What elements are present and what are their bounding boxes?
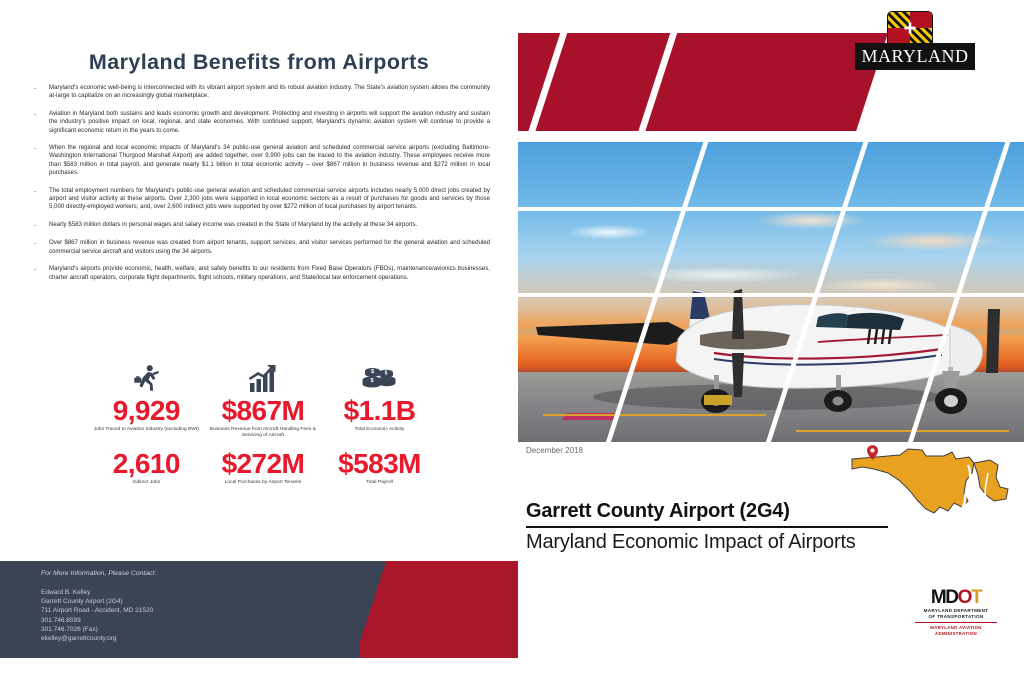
aircraft-photo (518, 139, 1024, 445)
bullet-dash-icon: - (34, 110, 49, 135)
stat-value: 9,929 (88, 396, 205, 426)
stat-value: $272M (205, 449, 322, 479)
mdot-divider (915, 622, 997, 623)
stat-total-economic-activity: $ $ $ $1.1B Total Economic Activity (321, 362, 438, 440)
mdot-letter-m: M (931, 588, 945, 608)
list-item-text: The total employment numbers for Marylan… (49, 187, 490, 212)
contact-bar: For More Information, Please Contact: Ed… (0, 561, 518, 658)
running-businessman-icon (88, 362, 205, 396)
list-item-text: Aviation in Maryland both sustains and l… (49, 110, 490, 135)
bullet-dash-icon: - (34, 144, 49, 178)
mosaic-diagonal-divider (597, 139, 716, 445)
title-divider (526, 526, 888, 528)
page-title: Maryland Benefits from Airports (0, 50, 518, 75)
maryland-wordmark: MARYLAND (855, 43, 975, 70)
coins-icon: $ $ $ (321, 362, 438, 396)
right-cover-panel: MARYLAND (518, 0, 1024, 683)
stat-label: Business Revenue from Aircraft Handling … (205, 427, 322, 440)
stat-label: Total Payroll (321, 480, 438, 486)
contact-heading: For More Information, Please Contact: (41, 570, 156, 577)
bullet-dash-icon: - (34, 265, 49, 282)
photo-frame-edge (518, 139, 1024, 142)
list-item: - Aviation in Maryland both sustains and… (34, 110, 490, 135)
contact-email[interactable]: ekelley@garrettcounty.org (41, 634, 156, 643)
growth-chart-icon (205, 362, 322, 396)
poster-page: Maryland Benefits from Airports - Maryla… (0, 0, 1024, 683)
bullet-dash-icon: - (34, 187, 49, 212)
maryland-state-logo: MARYLAND (855, 11, 975, 83)
list-item: - Maryland's airports provide economic, … (34, 265, 490, 282)
stat-label: Indirect Jobs (88, 480, 205, 486)
list-item-text: Nearly $583 million dollars in personal … (49, 221, 490, 230)
benefits-bullet-list: - Maryland's economic well-being is inte… (34, 84, 490, 291)
left-content-panel: Maryland Benefits from Airports - Maryla… (0, 0, 518, 683)
list-item: - When the regional and local economic i… (34, 144, 490, 178)
stat-local-purchases: $272M Local Purchases by Airport Tenants (205, 449, 322, 486)
mdot-letter-d: D (945, 588, 957, 608)
contact-phone: 301.746.8599 (41, 616, 156, 625)
statistics-row-1: 9,929 Jobs Traced to Aviation Industry (… (88, 362, 438, 440)
stat-value: $867M (205, 396, 322, 426)
publication-date: December 2018 (526, 446, 583, 455)
statistics-row-2: 2,610 Indirect Jobs $272M Local Purchase… (88, 449, 438, 486)
list-item-text: Over $867 million in business revenue wa… (49, 239, 490, 256)
crest-quadrant (910, 12, 932, 28)
contact-name: Edward B. Kelley (41, 588, 156, 597)
stat-jobs-traced: 9,929 Jobs Traced to Aviation Industry (… (88, 362, 205, 440)
cover-title-block: Garrett County Airport (2G4) Maryland Ec… (526, 500, 926, 554)
crest-quadrant (888, 28, 910, 44)
stat-total-payroll: $583M Total Payroll (321, 449, 438, 486)
location-pin-icon (867, 445, 878, 460)
stat-value: $583M (321, 449, 438, 479)
mosaic-diagonal-divider (757, 139, 876, 445)
svg-text:$: $ (371, 378, 374, 384)
stat-value: $1.1B (321, 396, 438, 426)
mdot-letter-t: T (971, 588, 981, 608)
photo-mosaic-overlay (518, 139, 1024, 445)
mosaic-horizontal-divider (518, 293, 1024, 297)
svg-text:$: $ (371, 369, 374, 375)
list-item: - Over $867 million in business revenue … (34, 239, 490, 256)
statistics-section: 9,929 Jobs Traced to Aviation Industry (… (88, 362, 438, 486)
list-item: - Maryland's economic well-being is inte… (34, 84, 490, 101)
mosaic-diagonal-divider (899, 139, 1018, 445)
bullet-dash-icon: - (34, 221, 49, 230)
stat-label: Total Economic Activity (321, 427, 438, 433)
mdot-wordmark: MDOT (904, 588, 1008, 608)
mdot-department-line2: OF TRANSPORTATION (904, 614, 1008, 620)
mosaic-horizontal-divider (518, 207, 1024, 211)
crest-quadrant (888, 12, 910, 28)
airport-title: Garrett County Airport (2G4) (526, 500, 926, 523)
bullet-dash-icon: - (34, 239, 49, 256)
stat-value: 2,610 (88, 449, 205, 479)
stat-label: Jobs Traced to Aviation Industry (exclud… (88, 427, 205, 433)
stat-indirect-jobs: 2,610 Indirect Jobs (88, 449, 205, 486)
list-item-text: When the regional and local economic imp… (49, 144, 490, 178)
maryland-crest-icon (887, 11, 933, 45)
mdot-logo: MDOT MARYLAND DEPARTMENT OF TRANSPORTATI… (904, 588, 1008, 636)
contact-fax: 301.746.7026 (Fax) (41, 625, 156, 634)
list-item-text: Maryland's economic well-being is interc… (49, 84, 490, 101)
list-item: - The total employment numbers for Maryl… (34, 187, 490, 212)
crest-quadrant (910, 28, 932, 44)
contact-organization: Garrett County Airport (2G4) (41, 597, 156, 606)
stat-business-revenue: $867M Business Revenue from Aircraft Han… (205, 362, 322, 440)
stat-label: Local Purchases by Airport Tenants (205, 480, 322, 486)
mdot-aviation-line2: ADMINISTRATION (904, 631, 1008, 637)
mdot-letter-o: O (958, 588, 971, 608)
contact-address: 711 Airport Road - Accident, MD 21520 (41, 606, 156, 615)
report-subtitle: Maryland Economic Impact of Airports (526, 531, 926, 554)
list-item-text: Maryland's airports provide economic, he… (49, 265, 490, 282)
list-item: - Nearly $583 million dollars in persona… (34, 221, 490, 230)
banner-red-shape (518, 33, 888, 131)
contact-details: For More Information, Please Contact: Ed… (41, 570, 156, 643)
svg-text:$: $ (385, 371, 388, 377)
bullet-dash-icon: - (34, 84, 49, 101)
